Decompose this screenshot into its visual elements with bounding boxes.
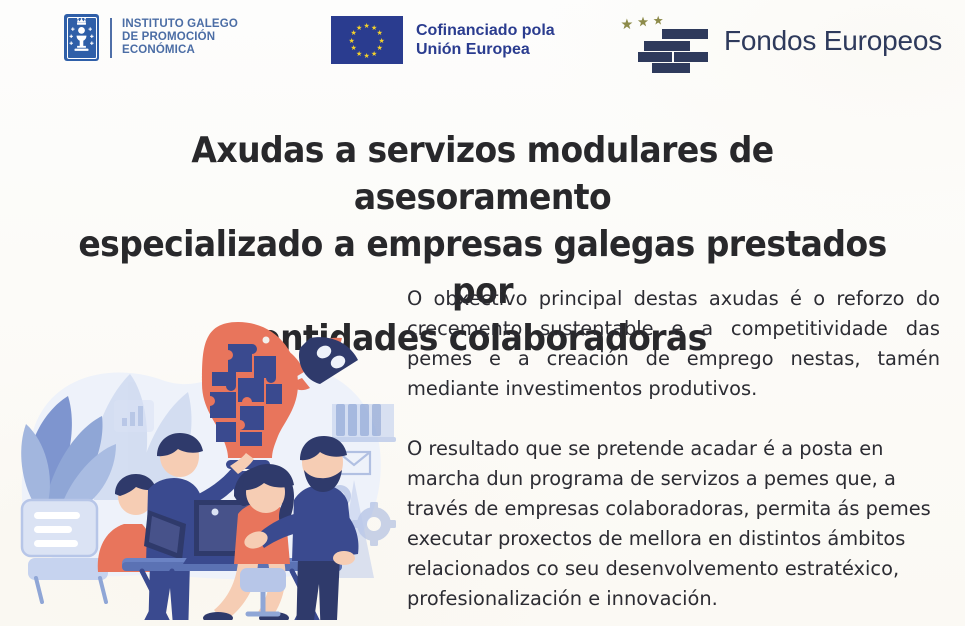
body-paragraph-2: O resultado que se pretende acadar é a p…: [407, 434, 940, 614]
fondos-europeos-wordmark: Fondos Europeos: [724, 25, 942, 57]
xunta-de-galicia-coat-of-arms-icon: [64, 14, 99, 61]
logo-bar: INSTITUTO GALEGO DE PROMOCIÓN ECONÓMICA …: [0, 0, 965, 88]
body-copy: O obxectivo principal destas axudas é o …: [407, 284, 940, 614]
chair-left: [22, 500, 108, 602]
european-union-flag-icon: [331, 16, 403, 64]
team-collaboration-illustration: [2, 300, 398, 620]
eu-line-1: Cofinanciado pola: [416, 21, 555, 40]
igape-logo: INSTITUTO GALEGO DE PROMOCIÓN ECONÓMICA: [64, 14, 238, 61]
igape-divider: [110, 18, 112, 58]
body-paragraph-1: O obxectivo principal destas axudas é o …: [407, 284, 940, 404]
european-union-wordmark: Cofinanciado pola Unión Europea: [416, 21, 555, 59]
igape-line-1: INSTITUTO GALEGO: [122, 18, 238, 31]
fondos-europeos-logo: Fondos Europeos: [618, 8, 942, 74]
title-line-1: Axudas a servizos modulares de asesorame…: [191, 130, 773, 218]
igape-line-3: ECONÓMICA: [122, 44, 238, 57]
igape-wordmark: INSTITUTO GALEGO DE PROMOCIÓN ECONÓMICA: [122, 18, 238, 58]
european-union-logo: Cofinanciado pola Unión Europea: [331, 16, 555, 64]
fondos-europeos-mark-icon: [618, 8, 714, 74]
eu-line-2: Unión Europea: [416, 40, 555, 59]
igape-line-2: DE PROMOCIÓN: [122, 31, 238, 44]
